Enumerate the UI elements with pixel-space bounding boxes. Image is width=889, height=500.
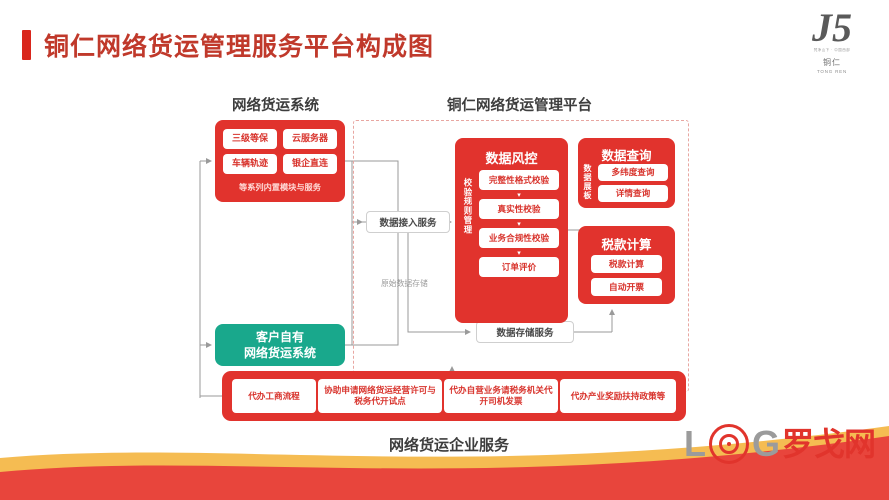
logo-slogan: 梵净山下 · 中国西部 — [814, 48, 851, 53]
page-title: 铜仁网络货运管理服务平台构成图 — [44, 27, 434, 63]
watermark-brand-cn: 罗戈网 — [782, 427, 875, 461]
tax-calculation-card: 税款计算 税款计算 自动开票 — [578, 226, 675, 304]
customer-owned-system-box[interactable]: 客户自有 网络货运系统 — [215, 324, 345, 366]
customer-box-line1: 客户自有 — [256, 329, 304, 345]
target-icon — [709, 424, 749, 464]
chip-business-registration-agency[interactable]: 代办工商流程 — [232, 379, 316, 413]
watermark-logo: L G 罗戈网 — [684, 424, 875, 464]
data-ingest-service-node[interactable]: 数据接入服务 — [366, 211, 450, 233]
arrow-down-icon-1: ▾ — [479, 190, 559, 199]
left-card-note: 等系列内置模块与服务 — [223, 181, 337, 193]
logo-name-en: TONG REN — [817, 69, 847, 74]
chip-vehicle-track[interactable]: 车辆轨迹 — [223, 154, 277, 174]
chip-driver-invoice-agency[interactable]: 代办自营业务请税务机关代开司机发票 — [444, 379, 558, 413]
chip-authenticity-check[interactable]: 真实性校验 — [479, 199, 559, 219]
chip-business-compliance-check[interactable]: 业务合规性校验 — [479, 228, 559, 248]
tax-card-chip-list: 税款计算 自动开票 — [591, 255, 662, 296]
query-card-title: 数据查询 — [578, 145, 675, 164]
page-header: 铜仁网络货运管理服务平台构成图 — [22, 27, 434, 63]
chip-bank-direct[interactable]: 银企直连 — [283, 154, 337, 174]
data-risk-control-card: 数据风控 校验规则管理 完整性格式校验 ▾ 真实性校验 ▾ 业务合规性校验 ▾ … — [455, 138, 568, 323]
chip-license-application-assistance[interactable]: 协助申请网络货运经营许可与税务代开试点 — [318, 379, 442, 413]
middle-section-heading: 铜仁网络货运管理平台 — [447, 94, 592, 115]
risk-card-title: 数据风控 — [455, 148, 568, 167]
diagram-canvas: 网络货运系统 铜仁网络货运管理平台 — [0, 78, 889, 458]
raw-storage-label: 原始数据存储 — [381, 278, 428, 289]
left-section-heading: 网络货运系统 — [232, 94, 319, 115]
arrow-down-icon-3: ▾ — [479, 248, 559, 257]
logo-name-cn: 铜仁 — [823, 57, 841, 68]
chip-auto-invoice[interactable]: 自动开票 — [591, 278, 662, 296]
data-storage-service-node[interactable]: 数据存储服务 — [476, 321, 574, 343]
chip-industry-incentive-policy[interactable]: 代办产业奖励扶持政策等 — [560, 379, 676, 413]
chip-integrity-format-check[interactable]: 完整性格式校验 — [479, 170, 559, 190]
risk-card-vertical-label: 校验规则管理 — [459, 178, 472, 234]
tax-card-title: 税款计算 — [578, 234, 675, 253]
chip-cloud-server[interactable]: 云服务器 — [283, 129, 337, 149]
query-card-chip-list: 多纬度查询 详情查询 — [598, 164, 668, 202]
chip-level3-security[interactable]: 三级等保 — [223, 129, 277, 149]
watermark-letter-l: L — [684, 427, 706, 461]
data-query-card: 数据查询 数据展板 多纬度查询 详情查询 — [578, 138, 675, 208]
title-accent-bar — [22, 30, 31, 60]
arrow-down-icon-2: ▾ — [479, 219, 559, 228]
risk-card-chip-list: 完整性格式校验 ▾ 真实性校验 ▾ 业务合规性校验 ▾ 订单评价 — [479, 170, 559, 277]
query-card-vertical-label: 数据展板 — [581, 164, 593, 200]
chip-tax-calculation[interactable]: 税款计算 — [591, 255, 662, 273]
left-chip-grid: 三级等保 云服务器 车辆轨迹 银企直连 — [223, 129, 337, 174]
chip-multidimensional-query[interactable]: 多纬度查询 — [598, 164, 668, 181]
chip-detail-query[interactable]: 详情查询 — [598, 185, 668, 202]
logo-calligraphy-mark: J5 — [812, 8, 852, 48]
network-freight-system-card: 三级等保 云服务器 车辆轨迹 银企直连 等系列内置模块与服务 — [215, 120, 345, 202]
corporate-logo: J5 梵净山下 · 中国西部 铜仁 TONG REN — [799, 8, 865, 84]
customer-box-line2: 网络货运系统 — [244, 345, 316, 361]
chip-order-evaluation[interactable]: 订单评价 — [479, 257, 559, 277]
watermark-letter-g: G — [752, 427, 780, 461]
